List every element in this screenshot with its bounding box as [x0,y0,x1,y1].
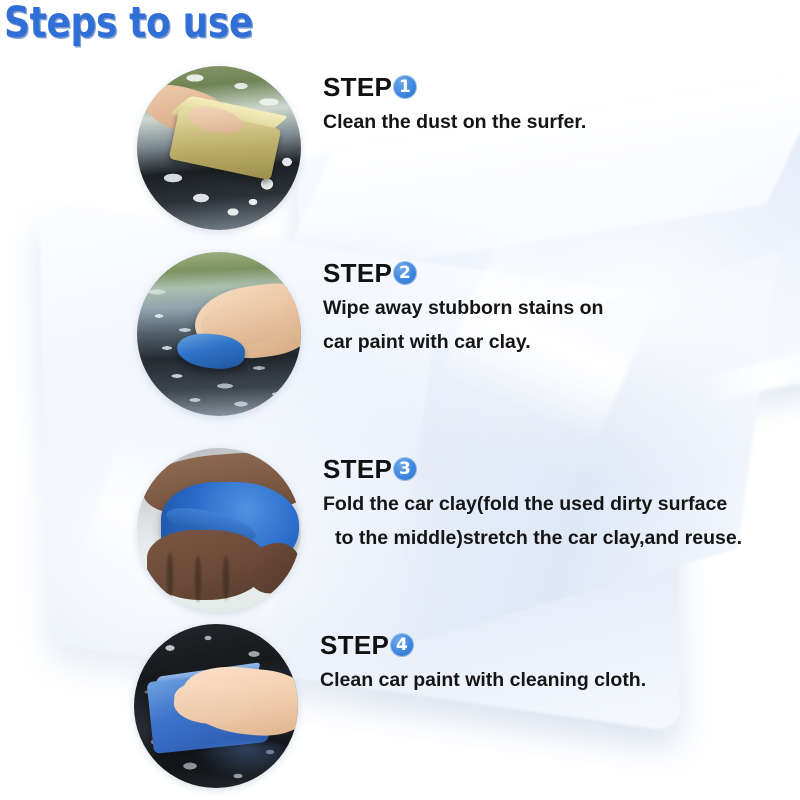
step-2-photo [137,252,301,416]
step-row-3: STEP 3 Fold the car clay(fold the used d… [137,448,742,612]
finger-separator [167,552,173,598]
step-1-text: STEP 1 Clean the dust on the surfer. [323,66,586,134]
step-1-line-1: Clean the dust on the surfer. [323,111,586,134]
step-row-1: STEP 1 Clean the dust on the surfer. [137,66,586,230]
step-4-heading: STEP 4 [320,632,646,658]
step-2-line-1: Wipe away stubborn stains on [323,297,603,320]
step-1-photo [137,66,301,230]
finger-separator [195,556,201,602]
step-1-label: STEP [323,74,392,100]
step-1-heading: STEP 1 [323,74,586,100]
step-4-line-1: Clean car paint with cleaning cloth. [320,669,646,692]
step-row-2: STEP 2 Wipe away stubborn stains on car … [137,252,603,416]
page-title: Steps to use [4,0,253,48]
step-2-number-badge: 2 [393,261,417,285]
step-1-number-badge: 1 [393,75,417,99]
step-2-label: STEP [323,260,392,286]
step-3-label: STEP [323,456,392,482]
step-4-number-badge: 4 [390,633,414,657]
step-2-text: STEP 2 Wipe away stubborn stains on car … [323,252,603,354]
step-4-photo [134,624,298,788]
step-3-line-1: Fold the car clay(fold the used dirty su… [323,493,742,516]
step-2-line-2: car paint with car clay. [323,331,603,354]
step-3-photo [137,448,301,612]
paint-reflection [192,742,298,776]
step-row-4: STEP 4 Clean car paint with cleaning clo… [134,624,646,788]
product-infographic: Steps to use STEP 1 Clean the dust on th… [0,0,800,800]
step-3-text: STEP 3 Fold the car clay(fold the used d… [323,448,742,550]
step-4-label: STEP [320,632,389,658]
step-3-heading: STEP 3 [323,456,742,482]
finger-separator [223,556,229,600]
step-3-line-2: to the middle)stretch the car clay,and r… [323,527,742,550]
step-2-heading: STEP 2 [323,260,603,286]
step-3-number-badge: 3 [393,457,417,481]
step-4-text: STEP 4 Clean car paint with cleaning clo… [320,624,646,692]
